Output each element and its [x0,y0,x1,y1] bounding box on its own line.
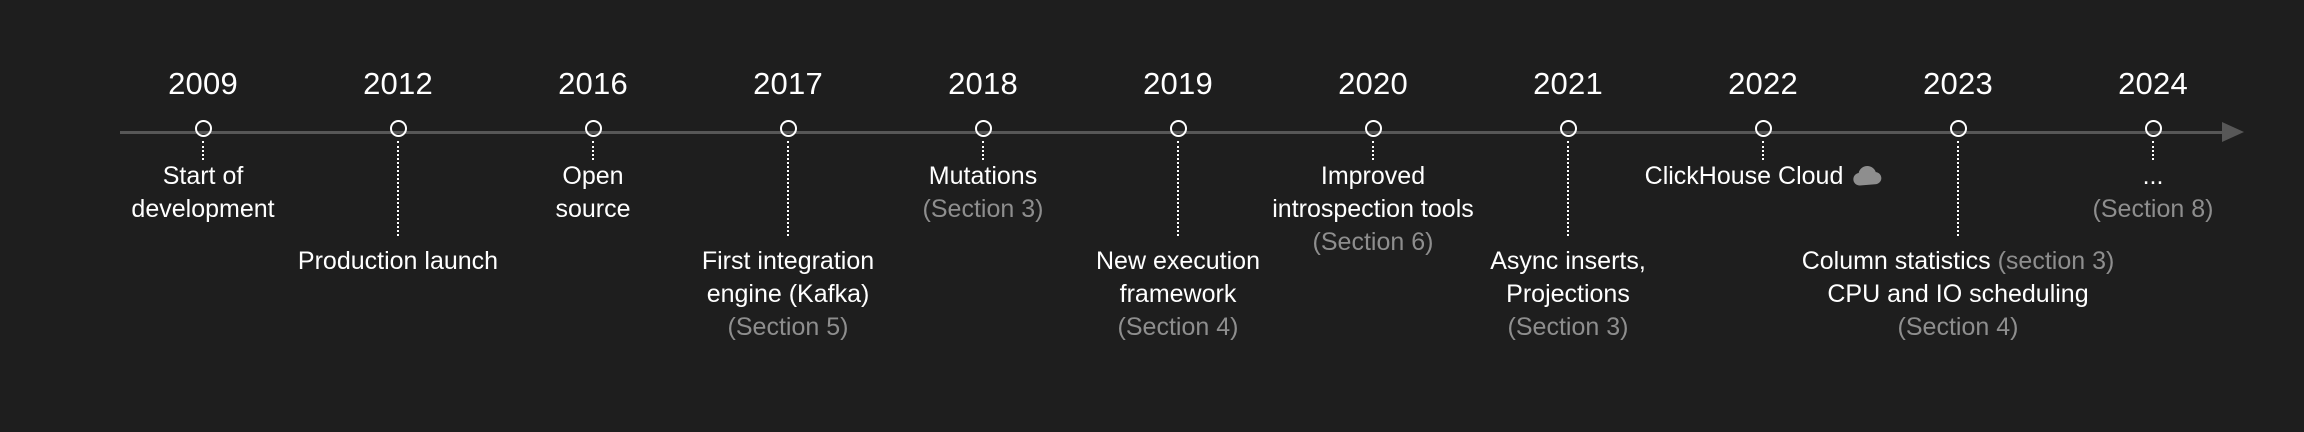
event-label-line: Improved [1272,160,1474,193]
event-label-line: Open [555,160,630,193]
event-label-line: Start of [131,160,274,193]
event-leader-line [787,141,789,236]
event-label-line: Projections [1490,278,1646,311]
event-leader-line [982,141,984,160]
event-marker-circle-icon[interactable] [1950,120,1967,137]
event-leader-line [202,141,204,160]
event-marker-circle-icon[interactable] [2145,120,2162,137]
event-section-ref: (Section 6) [1272,226,1474,259]
event-year-label: 2017 [753,68,823,99]
event-marker-circle-icon[interactable] [390,120,407,137]
event-leader-line [1177,141,1179,236]
event-leader-line [1567,141,1569,236]
event-section-ref: (Section 4) [1096,311,1260,344]
event-label: Opensource [555,160,630,226]
event-leader-line [2152,141,2154,160]
event-section-ref: (Section 3) [1490,311,1646,344]
event-label-line: Async inserts, [1490,245,1646,278]
event-marker-circle-icon[interactable] [1560,120,1577,137]
event-marker-circle-icon[interactable] [585,120,602,137]
event-label-line: source [555,193,630,226]
event-marker-circle-icon[interactable] [1365,120,1382,137]
event-label: ClickHouse Cloud [1645,160,1882,196]
event-marker-circle-icon[interactable] [780,120,797,137]
event-label-line: CPU and IO scheduling [1802,278,2115,311]
event-leader-line [1372,141,1374,160]
event-label-line: Mutations [923,160,1044,193]
event-marker-circle-icon[interactable] [195,120,212,137]
event-year-label: 2018 [948,68,1018,99]
event-label-line: New execution [1096,245,1260,278]
event-label-line: framework [1096,278,1260,311]
event-marker-circle-icon[interactable] [1170,120,1187,137]
event-year-label: 2023 [1923,68,1993,99]
event-label-line: development [131,193,274,226]
event-label: Async inserts,Projections(Section 3) [1490,245,1646,344]
event-year-label: 2012 [363,68,433,99]
arrow-right-icon [2222,122,2244,142]
event-label-line: ClickHouse Cloud [1645,160,1882,196]
event-leader-line [592,141,594,160]
event-label: Improvedintrospection tools(Section 6) [1272,160,1474,259]
event-label-text: ClickHouse Cloud [1645,162,1844,190]
event-label-text: Column statistics [1802,247,1991,275]
event-year-label: 2022 [1728,68,1798,99]
event-leader-line [397,141,399,236]
cloud-icon [1851,163,1881,196]
event-label-line: Column statistics (section 3) [1802,245,2115,278]
event-marker-circle-icon[interactable] [1755,120,1772,137]
event-label-line: First integration [702,245,874,278]
event-label: Mutations(Section 3) [923,160,1044,226]
event-section-ref: (Section 3) [923,193,1044,226]
event-label: Production launch [298,245,498,278]
event-section-ref: (Section 5) [702,311,874,344]
event-label-line: ... [2093,160,2214,193]
event-leader-line [1762,141,1764,160]
event-label: Column statistics (section 3)CPU and IO … [1802,245,2115,344]
event-leader-line [1957,141,1959,236]
event-year-label: 2024 [2118,68,2188,99]
event-year-label: 2019 [1143,68,1213,99]
event-year-label: 2020 [1338,68,1408,99]
event-marker-circle-icon[interactable] [975,120,992,137]
event-label-line: engine (Kafka) [702,278,874,311]
event-label: ...(Section 8) [2093,160,2214,226]
event-label-line: introspection tools [1272,193,1474,226]
timeline-figure: 2009Start ofdevelopment2012Production la… [0,0,2304,432]
event-section-ref-inline: (section 3) [1998,247,2115,275]
event-label: Start ofdevelopment [131,160,274,226]
event-year-label: 2021 [1533,68,1603,99]
event-label: New executionframework(Section 4) [1096,245,1260,344]
event-label-line: Production launch [298,245,498,278]
event-label: First integrationengine (Kafka)(Section … [702,245,874,344]
event-year-label: 2009 [168,68,238,99]
event-year-label: 2016 [558,68,628,99]
event-section-ref: (Section 8) [2093,193,2214,226]
event-section-ref: (Section 4) [1802,311,2115,344]
